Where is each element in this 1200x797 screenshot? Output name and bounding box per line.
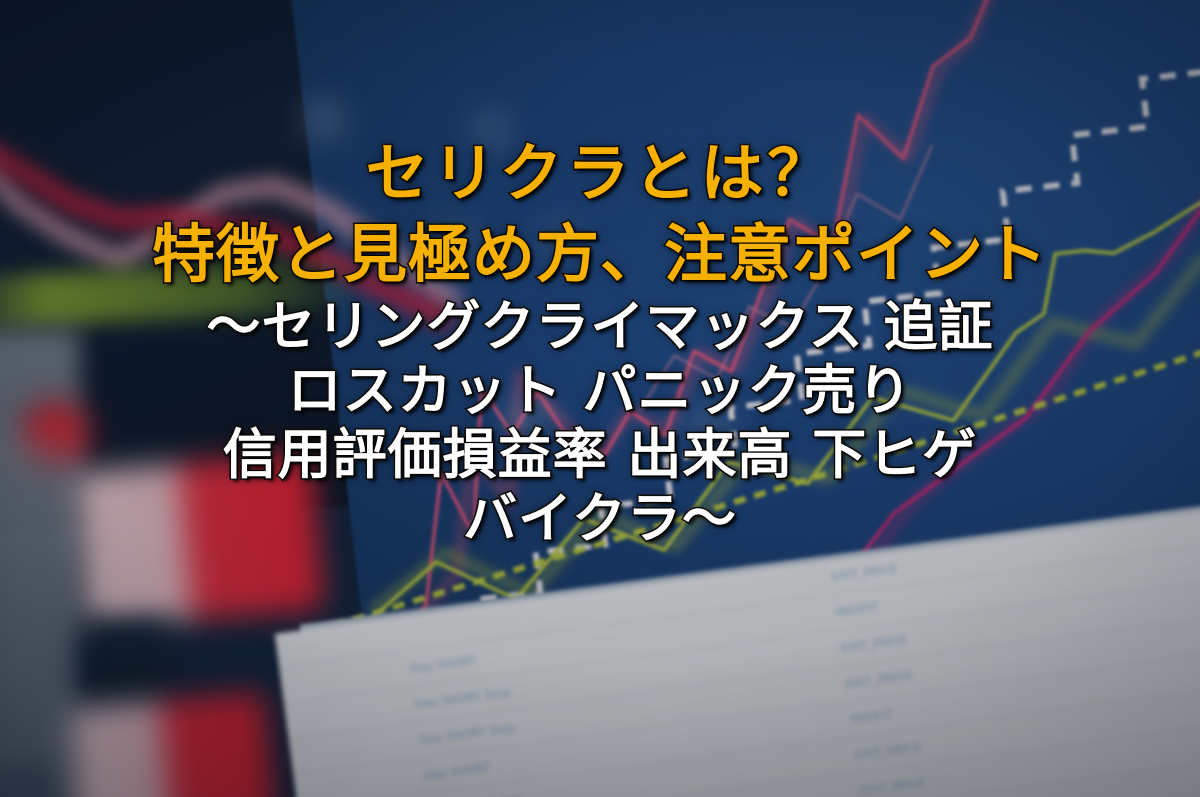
background-vignette [0,0,1200,797]
background-photo: Day SHORT Day SHORT Stop Day SHORT Stop … [0,0,1200,797]
hero-banner: Day SHORT Day SHORT Stop Day SHORT Stop … [0,0,1200,797]
